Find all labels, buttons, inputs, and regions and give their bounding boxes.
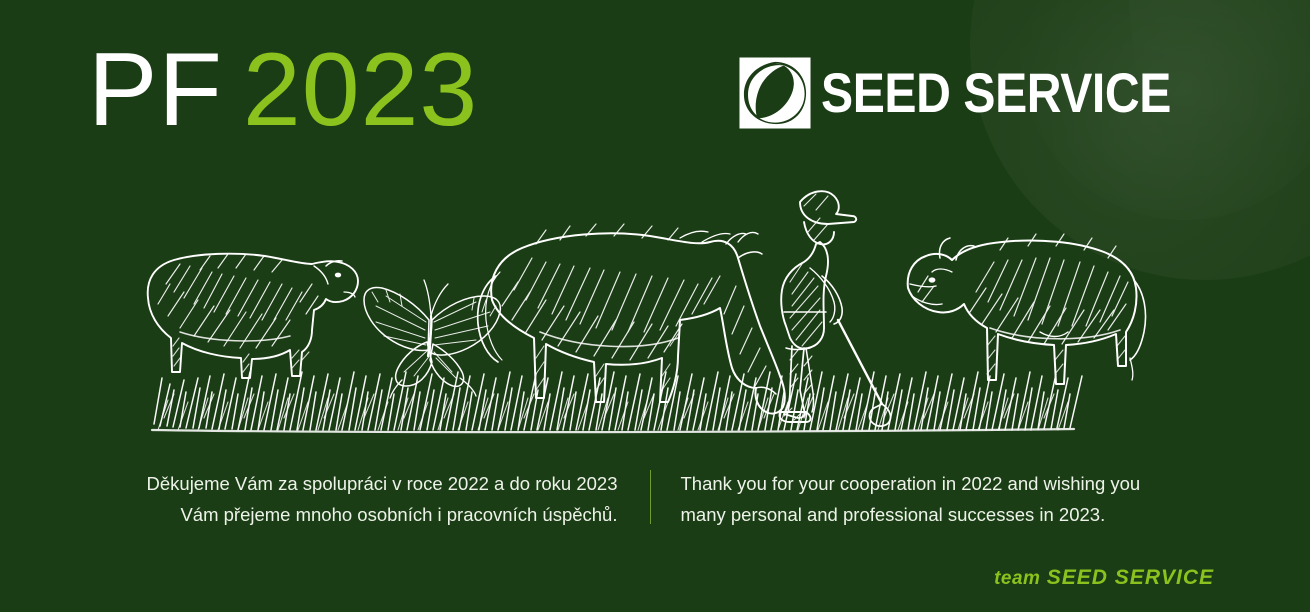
sheep-figure [148, 254, 358, 378]
grass-strip [152, 372, 1082, 432]
headline-prefix: PF [88, 32, 223, 148]
headline-year: 2023 [243, 32, 478, 148]
farm-illustration [140, 180, 1070, 435]
greeting-english: Thank you for your cooperation in 2022 a… [651, 468, 1191, 530]
seed-leaf-icon [738, 56, 812, 130]
team-signature: team SEED SERVICE [994, 566, 1214, 590]
page-title: PF2023 [88, 36, 478, 145]
horse-figure [478, 224, 785, 414]
brand-logo: SEED SERVICE [738, 56, 1228, 130]
brand-wordmark: SEED SERVICE [821, 65, 1171, 121]
signature-prefix: team [994, 568, 1040, 589]
greetings-block: Děkujeme Vám za spolupráci v roce 2022 a… [0, 468, 1310, 530]
signature-brand: SEED SERVICE [1047, 566, 1214, 589]
cow-figure [908, 234, 1146, 384]
background-watermark-leaf [1079, 0, 1310, 310]
greeting-czech: Děkujeme Vám za spolupráci v roce 2022 a… [120, 468, 650, 530]
farmer-figure [779, 191, 890, 426]
pf-2023-greeting-card: PF2023 SEED SERVICE [0, 0, 1310, 612]
